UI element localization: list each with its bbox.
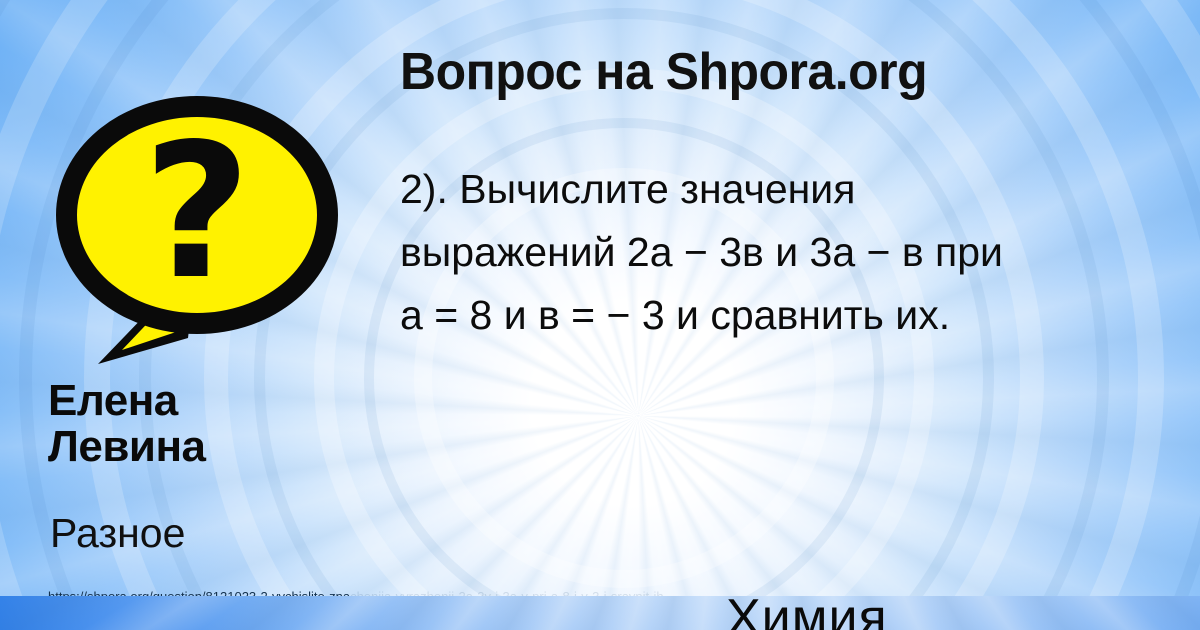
author-first-name: Елена — [48, 378, 378, 424]
question-line-3: а = 8 и в = − 3 и сравнить их. — [400, 284, 1200, 347]
author-name: Елена Левина — [48, 378, 378, 470]
bottom-strip: Химия — [0, 596, 1200, 630]
question-mark-glyph: ? — [56, 96, 338, 334]
question-speech-bubble-icon: ? — [48, 96, 348, 368]
share-card: ? Вопрос на Shpora.org 2). Вычислите зна… — [0, 0, 1200, 630]
author-last-name: Левина — [48, 424, 378, 470]
bottom-strip-label: Химия — [726, 596, 888, 630]
question-line-2: выражений 2а − 3в и 3а − в при — [400, 221, 1200, 284]
page-title: Вопрос на Shpora.org — [400, 44, 927, 100]
question-body: 2). Вычислите значения выражений 2а − 3в… — [400, 158, 1200, 347]
author-category: Разное — [50, 510, 185, 556]
question-line-1: 2). Вычислите значения — [400, 158, 1200, 221]
bottom-strip-rays — [0, 596, 1200, 630]
